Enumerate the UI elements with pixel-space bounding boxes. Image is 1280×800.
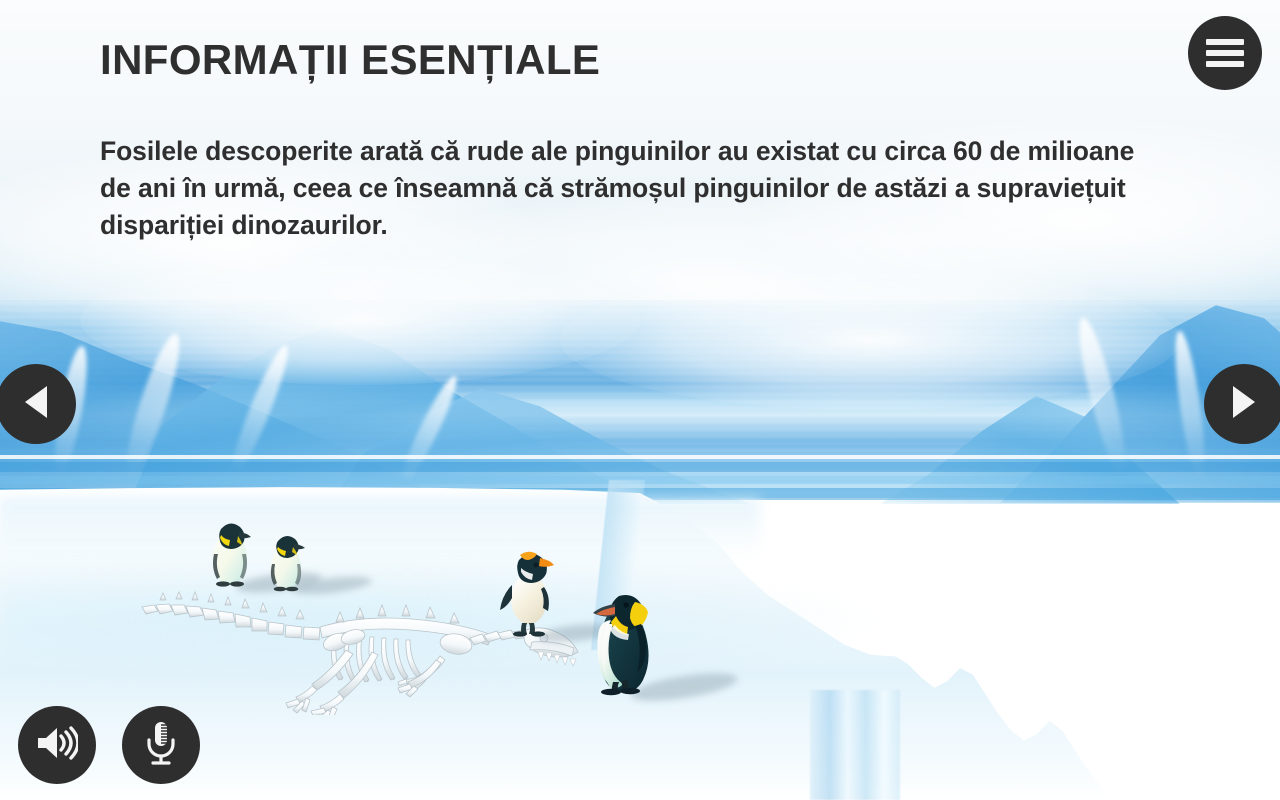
ice-highlight [0, 498, 760, 558]
ice-cliff-face [810, 690, 900, 800]
water-band [0, 300, 1280, 498]
next-button[interactable] [1204, 364, 1280, 444]
page-title: INFORMAȚII ESENȚIALE [100, 36, 600, 84]
penguin-mid [500, 545, 558, 637]
menu-button[interactable] [1188, 16, 1262, 90]
sound-button[interactable] [18, 706, 96, 784]
hamburger-icon [1206, 39, 1244, 67]
penguin-back-left [206, 512, 254, 590]
penguin-back-right [264, 528, 308, 594]
chevron-left-icon [23, 385, 49, 424]
microphone-icon [144, 721, 178, 770]
penguin-front [585, 580, 657, 695]
mic-button[interactable] [122, 706, 200, 784]
slide-stage: INFORMAȚII ESENȚIALE Fosilele descoperit… [0, 0, 1280, 800]
body-text: Fosilele descoperite arată că rude ale p… [100, 133, 1150, 244]
speaker-icon [36, 725, 78, 766]
chevron-right-icon [1231, 385, 1257, 424]
